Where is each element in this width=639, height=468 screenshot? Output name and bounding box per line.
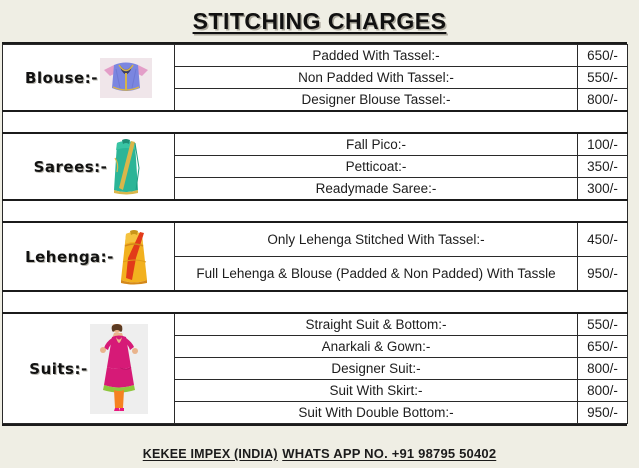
- price-cell: 650/-: [578, 336, 628, 358]
- price-cell: 800/-: [578, 380, 628, 402]
- section-spacer: [3, 200, 628, 222]
- table-row: Suits:-: [3, 313, 628, 336]
- blouse-clipart-icon: [100, 58, 152, 98]
- description-cell: Fall Pico:-: [175, 133, 578, 156]
- description-cell: Designer Suit:-: [175, 358, 578, 380]
- price-cell: 650/-: [578, 45, 628, 67]
- table-row: Lehenga:-: [3, 222, 628, 257]
- price-cell: 450/-: [578, 222, 628, 257]
- description-cell: Petticoat:-: [175, 156, 578, 178]
- saree-clipart-icon: [109, 138, 143, 196]
- description-cell: Full Lehenga & Blouse (Padded & Non Padd…: [175, 257, 578, 292]
- description-cell: Straight Suit & Bottom:-: [175, 313, 578, 336]
- description-cell: Only Lehenga Stitched With Tassel:-: [175, 222, 578, 257]
- description-cell: Suit With Double Bottom:-: [175, 402, 578, 424]
- description-cell: Designer Blouse Tassel:-: [175, 89, 578, 112]
- price-cell: 800/-: [578, 89, 628, 112]
- description-cell: Anarkali & Gown:-: [175, 336, 578, 358]
- category-label: Blouse:-: [25, 69, 98, 87]
- whatsapp-contact: WHATS APP NO. +91 98795 50402: [282, 446, 496, 461]
- company-name: KEKEE IMPEX (INDIA): [143, 447, 278, 461]
- category-cell-blouse: Blouse:-: [3, 45, 175, 112]
- description-cell: Readymade Saree:-: [175, 178, 578, 201]
- footer: KEKEE IMPEX (INDIA) WHATS APP NO. +91 98…: [0, 426, 639, 463]
- category-cell-lehenga: Lehenga:-: [3, 222, 175, 291]
- suit-clipart-icon: [90, 324, 148, 414]
- category-label: Lehenga:-: [25, 248, 114, 266]
- price-cell: 100/-: [578, 133, 628, 156]
- price-cell: 800/-: [578, 358, 628, 380]
- description-cell: Non Padded With Tassel:-: [175, 67, 578, 89]
- price-cell: 300/-: [578, 178, 628, 201]
- category-label: Suits:-: [29, 360, 87, 378]
- charges-table-wrapper: Blouse:-: [2, 42, 627, 426]
- description-cell: Suit With Skirt:-: [175, 380, 578, 402]
- table-row: Blouse:-: [3, 45, 628, 67]
- lehenga-clipart-icon: [116, 228, 152, 286]
- table-row: Sarees:-: [3, 133, 628, 156]
- price-cell: 350/-: [578, 156, 628, 178]
- price-cell: 550/-: [578, 67, 628, 89]
- stitching-charges-sheet: STITCHING CHARGES Blouse:-: [0, 0, 639, 468]
- category-cell-suits: Suits:-: [3, 313, 175, 424]
- category-label: Sarees:-: [34, 158, 108, 176]
- price-cell: 950/-: [578, 257, 628, 292]
- description-cell: Padded With Tassel:-: [175, 45, 578, 67]
- section-spacer: [3, 291, 628, 313]
- charges-table: Blouse:-: [2, 44, 628, 424]
- category-cell-sarees: Sarees:-: [3, 133, 175, 200]
- page-title: STITCHING CHARGES: [193, 8, 447, 35]
- price-cell: 950/-: [578, 402, 628, 424]
- title-band: STITCHING CHARGES: [0, 0, 639, 42]
- price-cell: 550/-: [578, 313, 628, 336]
- section-spacer: [3, 111, 628, 133]
